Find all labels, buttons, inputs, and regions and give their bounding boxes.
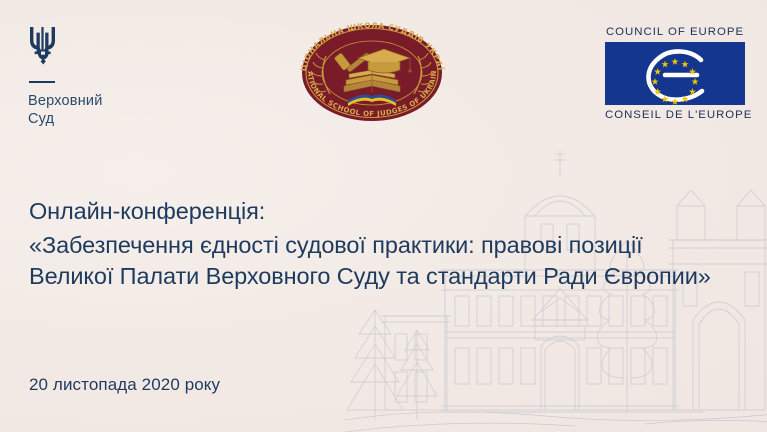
ukraine-trident-emblem	[28, 24, 58, 68]
conference-banner: Верховний Суд НАЦІОНАЛЬНА ШКОЛА СУДДІВ У…	[0, 0, 767, 432]
conference-date: 20 листопада 2020 року	[29, 375, 220, 395]
headline-line-3: Великої Палати Верховного Суду та станда…	[29, 261, 744, 292]
nsj-book-icon	[344, 70, 400, 92]
supreme-court-name: Верховний Суд	[28, 92, 178, 128]
supreme-court-divider	[29, 81, 55, 83]
conference-headline: Онлайн-конференція: «Забезпечення єдност…	[29, 196, 744, 292]
coe-label-english: COUNCIL OF EUROPE	[605, 26, 745, 38]
council-of-europe-logo: COUNCIL OF EUROPE	[605, 26, 745, 121]
headline-line-2: «Забезпечення єдності судової практики: …	[29, 230, 744, 261]
coe-flag	[605, 42, 745, 105]
supreme-court-name-line1: Верховний	[28, 92, 178, 110]
supreme-court-name-line2: Суд	[28, 110, 178, 128]
supreme-court-logo: Верховний Суд	[28, 24, 178, 128]
logo-row: Верховний Суд НАЦІОНАЛЬНА ШКОЛА СУДДІВ У…	[0, 0, 767, 150]
coe-label-french: CONSEIL DE L'EUROPE	[605, 109, 745, 121]
headline-line-1: Онлайн-конференція:	[29, 196, 744, 227]
national-school-of-judges-logo: НАЦІОНАЛЬНА ШКОЛА СУДДІВ УКРАЇНИ NATIONA…	[292, 22, 452, 124]
